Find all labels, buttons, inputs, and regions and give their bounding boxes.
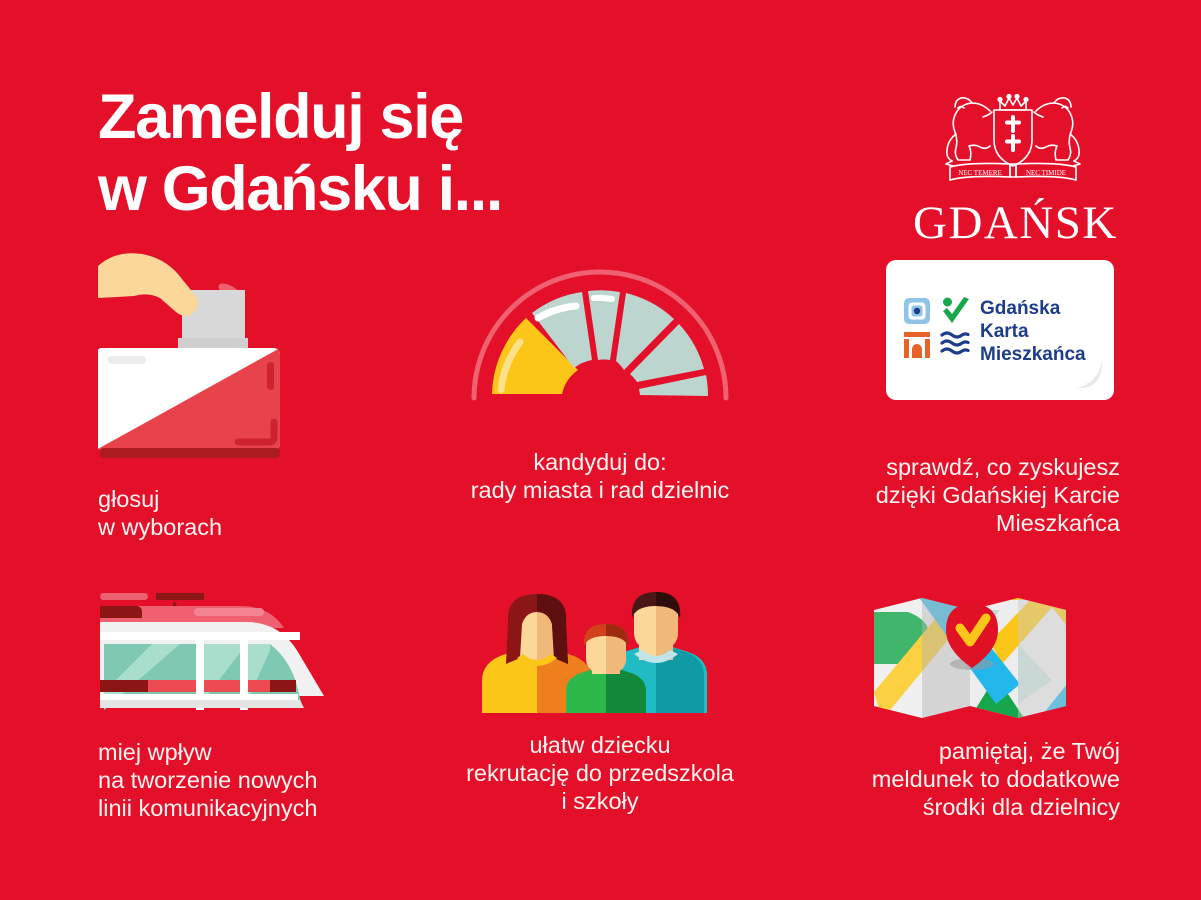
cell-vote: głosuj w wyborach	[98, 252, 428, 541]
resident-card-art: Gdańska Karta Mieszkańca	[800, 252, 1120, 432]
ballot-box-icon	[98, 252, 378, 462]
map-art	[790, 588, 1120, 723]
ballot-box-art	[98, 252, 428, 467]
cell-candidate-caption: kandyduj do: rady miasta i rad dzielnic	[420, 448, 780, 504]
gdansk-coat-of-arms-icon: NEC TEMERE NEC TIMIDE	[928, 84, 1098, 194]
gdansk-brand: NEC TEMERE NEC TIMIDE GDAŃSK	[913, 84, 1113, 247]
page-title: Zamelduj się w Gdańsku i...	[98, 82, 798, 226]
folded-map-pin-icon	[790, 588, 1120, 723]
cell-vote-caption: głosuj w wyborach	[98, 485, 428, 541]
family-art	[420, 588, 780, 713]
half-pie-art	[420, 252, 780, 432]
headline-line-1: Zamelduj się	[98, 82, 798, 154]
cell-map: pamiętaj, że Twój meldunek to dodatkowe …	[790, 588, 1120, 822]
tram-art	[98, 588, 438, 718]
family-icon	[420, 588, 780, 713]
cell-map-caption: pamiętaj, że Twój meldunek to dodatkowe …	[790, 737, 1120, 822]
half-pie-chart-icon	[420, 252, 780, 432]
cell-family: ułatw dziecku rekrutację do przedszkola …	[420, 588, 780, 816]
gdanska-karta-mieszkanca-card-icon: Gdańska Karta Mieszkańca	[800, 252, 1120, 432]
cell-family-caption: ułatw dziecku rekrutację do przedszkola …	[420, 731, 780, 816]
cell-card-caption: sprawdź, co zyskujesz dzięki Gdańskiej K…	[800, 453, 1120, 538]
tram-icon	[98, 588, 398, 718]
crest-motto-right: NEC TIMIDE	[1026, 169, 1066, 177]
cell-transport: miej wpływ na tworzenie nowych linii kom…	[98, 588, 438, 823]
cell-candidate: kandyduj do: rady miasta i rad dzielnic	[420, 252, 780, 504]
crest-motto-left: NEC TEMERE	[958, 169, 1002, 177]
cell-card: Gdańska Karta Mieszkańca sprawdź, co zys…	[800, 252, 1120, 538]
card-line-1: Gdańska	[980, 298, 1061, 319]
headline-line-2: w Gdańsku i...	[98, 154, 798, 226]
card-line-3: Mieszkańca	[980, 344, 1086, 365]
cell-transport-caption: miej wpływ na tworzenie nowych linii kom…	[98, 738, 438, 823]
gdansk-wordmark: GDAŃSK	[913, 200, 1113, 247]
card-line-2: Karta	[980, 321, 1029, 342]
poster-canvas: Zamelduj się w Gdańsku i...	[0, 0, 1201, 900]
